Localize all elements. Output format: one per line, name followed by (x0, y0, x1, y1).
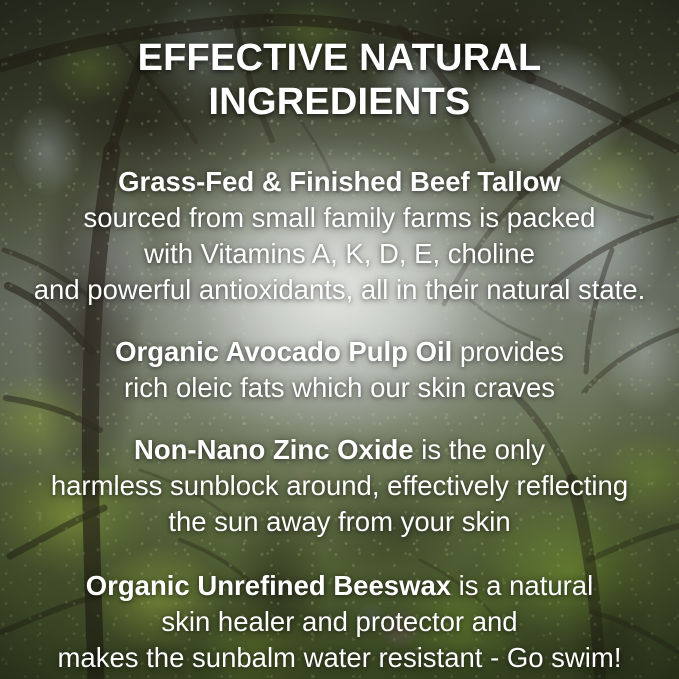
ingredient-paragraph-beeswax: Organic Unrefined Beeswax is a natural s… (24, 568, 655, 676)
zinc-line-2: the sun away from your skin (168, 506, 510, 537)
beeswax-line-1: skin healer and protector and (161, 606, 517, 637)
tallow-line-2: with Vitamins A, K, D, E, choline (144, 238, 535, 269)
ingredient-name-zinc: Non-Nano Zinc Oxide (134, 434, 414, 465)
poster-content: EFFECTIVE NATURAL INGREDIENTS Grass-Fed … (0, 0, 679, 679)
tallow-line-1: sourced from small family farms is packe… (84, 202, 596, 233)
ingredient-name-tallow: Grass-Fed & Finished Beef Tallow (118, 166, 561, 197)
beeswax-lead-tail: is a natural (451, 570, 593, 601)
ingredient-paragraph-avocado: Organic Avocado Pulp Oil provides rich o… (24, 334, 655, 406)
avocado-line-1: rich oleic fats which our skin craves (124, 372, 555, 403)
zinc-lead-tail: is the only (414, 434, 545, 465)
zinc-line-1: harmless sunblock around, effectively re… (51, 470, 628, 501)
tallow-line-3: and powerful antioxidants, all in their … (34, 274, 645, 305)
title-line-2: INGREDIENTS (209, 81, 471, 123)
ingredients-poster: EFFECTIVE NATURAL INGREDIENTS Grass-Fed … (0, 0, 679, 679)
ingredient-paragraph-tallow: Grass-Fed & Finished Beef Tallow sourced… (24, 164, 655, 308)
page-title: EFFECTIVE NATURAL INGREDIENTS (24, 36, 655, 124)
ingredient-paragraph-zinc: Non-Nano Zinc Oxide is the only harmless… (24, 432, 655, 540)
beeswax-line-2: makes the sunbalm water resistant - Go s… (58, 642, 622, 673)
ingredient-name-beeswax: Organic Unrefined Beeswax (86, 570, 451, 601)
title-line-1: EFFECTIVE NATURAL (138, 37, 542, 79)
avocado-lead-tail: provides (452, 336, 564, 367)
ingredient-name-avocado: Organic Avocado Pulp Oil (115, 336, 452, 367)
